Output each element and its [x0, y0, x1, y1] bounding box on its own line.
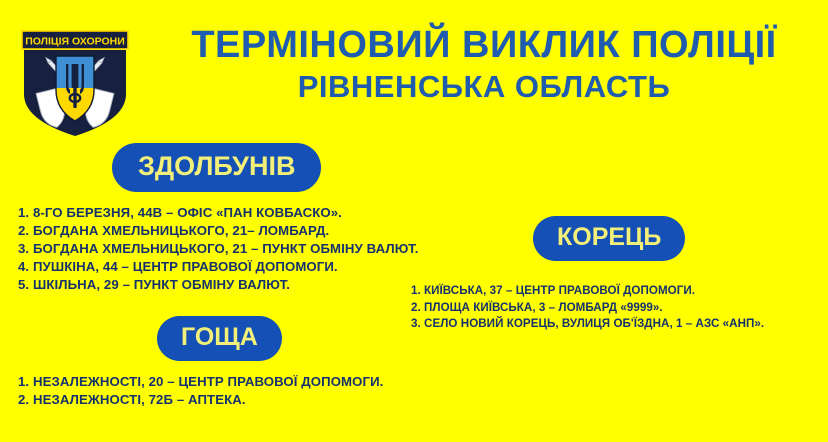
- city-badge-hoshcha[interactable]: ГОЩА: [157, 316, 282, 361]
- address-list-zdolbuniv: 1. 8-ГО БЕРЕЗНЯ, 44В – ОФІС «ПАН КОВБАСК…: [18, 204, 419, 294]
- list-item: 4. ПУШКІНА, 44 – ЦЕНТР ПРАВОВОЇ ДОПОМОГИ…: [18, 258, 419, 276]
- address-list-hoshcha: 1. НЕЗАЛЕЖНОСТІ, 20 – ЦЕНТР ПРАВОВОЇ ДОП…: [18, 373, 383, 409]
- list-item: 1. КИЇВСЬКА, 37 – ЦЕНТР ПРАВОВОЇ ДОПОМОГ…: [411, 283, 764, 300]
- page-subtitle: РІВНЕНСЬКА ОБЛАСТЬ: [140, 71, 828, 102]
- list-item: 2. НЕЗАЛЕЖНОСТІ, 72Б – АПТЕКА.: [18, 391, 383, 409]
- list-item: 3. СЕЛО НОВИЙ КОРЕЦЬ, ВУЛИЦЯ ОБ'ЇЗДНА, 1…: [411, 316, 764, 333]
- list-item: 1. 8-ГО БЕРЕЗНЯ, 44В – ОФІС «ПАН КОВБАСК…: [18, 204, 419, 222]
- list-item: 3. БОГДАНА ХМЕЛЬНИЦЬКОГО, 21 – ПУНКТ ОБМ…: [18, 240, 419, 258]
- list-item: 1. НЕЗАЛЕЖНОСТІ, 20 – ЦЕНТР ПРАВОВОЇ ДОП…: [18, 373, 383, 391]
- city-badge-zdolbuniv[interactable]: ЗДОЛБУНІВ: [112, 143, 321, 192]
- city-badge-korets[interactable]: КОРЕЦЬ: [533, 216, 685, 261]
- address-list-korets: 1. КИЇВСЬКА, 37 – ЦЕНТР ПРАВОВОЇ ДОПОМОГ…: [411, 283, 764, 333]
- list-item: 2. БОГДАНА ХМЕЛЬНИЦЬКОГО, 21– ЛОМБАРД.: [18, 222, 419, 240]
- security-police-emblem: ПОЛІЦІЯ ОХОРОНИ: [16, 28, 134, 138]
- header-block: ТЕРМІНОВИЙ ВИКЛИК ПОЛІЦІЇ РІВНЕНСЬКА ОБЛ…: [140, 26, 828, 102]
- list-item: 2. ПЛОЩА КИЇВСЬКА, 3 – ЛОМБАРД «9999».: [411, 300, 764, 317]
- poster-canvas: ПОЛІЦІЯ ОХОРОНИ: [0, 0, 828, 442]
- emblem-banner-text: ПОЛІЦІЯ ОХОРОНИ: [25, 36, 125, 48]
- page-title: ТЕРМІНОВИЙ ВИКЛИК ПОЛІЦІЇ: [140, 26, 828, 64]
- list-item: 5. ШКІЛЬНА, 29 – ПУНКТ ОБМІНУ ВАЛЮТ.: [18, 276, 419, 294]
